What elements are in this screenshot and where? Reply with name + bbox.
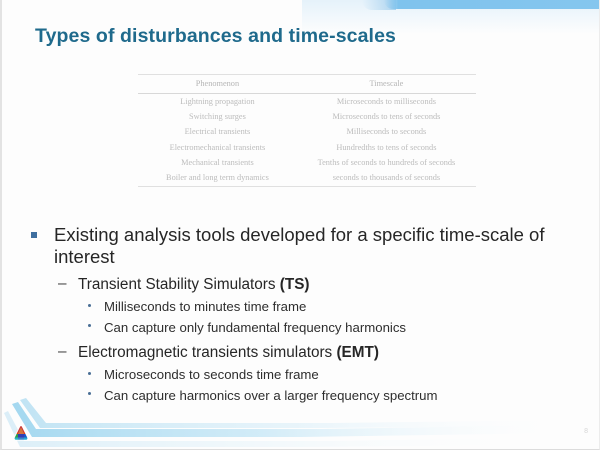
- phenomena-table: Phenomenon Timescale Lightning propagati…: [138, 74, 476, 187]
- bullet-level2-ts: – Transient Stability Simulators (TS): [26, 275, 586, 295]
- cell-timescale: Microseconds to tens of seconds: [297, 109, 476, 124]
- bullet-level3-text: Microseconds to seconds time frame: [104, 367, 319, 382]
- table-row: Lightning propagation Microseconds to mi…: [138, 94, 476, 110]
- dot-bullet-icon: [88, 372, 91, 375]
- cell-timescale: Tenths of seconds to hundreds of seconds: [297, 155, 476, 170]
- cell-timescale: Hundredths to tens of seconds: [297, 140, 476, 155]
- dot-bullet-icon: [88, 304, 91, 307]
- cell-phenomenon: Electromechanical transients: [138, 140, 297, 155]
- bullet-level2-abbrev: (EMT): [336, 344, 378, 361]
- cell-phenomenon: Electrical transients: [138, 124, 297, 139]
- table-row: Boiler and long term dynamics seconds to…: [138, 170, 476, 187]
- table-row: Switching surges Microseconds to tens of…: [138, 109, 476, 124]
- slide-title: Types of disturbances and time-scales: [35, 25, 396, 48]
- dash-bullet-icon: –: [58, 342, 67, 362]
- cell-phenomenon: Boiler and long term dynamics: [138, 170, 297, 187]
- presentation-slide: Types of disturbances and time-scales Ph…: [0, 0, 600, 450]
- logo-svg: [11, 423, 31, 443]
- bullet-level3: Milliseconds to minutes time frame: [26, 298, 586, 316]
- dash-bullet-icon: –: [58, 274, 67, 294]
- cell-timescale: seconds to thousands of seconds: [297, 170, 476, 187]
- square-bullet-icon: [31, 232, 37, 238]
- column-header-timescale: Timescale: [297, 75, 476, 94]
- column-header-phenomenon: Phenomenon: [138, 75, 297, 94]
- cell-timescale: Microseconds to milliseconds: [297, 94, 476, 110]
- bullet-level2-abbrev: (TS): [280, 276, 310, 293]
- cell-phenomenon: Lightning propagation: [138, 94, 297, 110]
- cell-phenomenon: Switching surges: [138, 109, 297, 124]
- bullet-level3-text: Milliseconds to minutes time frame: [104, 299, 306, 314]
- cell-phenomenon: Mechanical transients: [138, 155, 297, 170]
- triangle-prism-logo: [11, 423, 31, 443]
- bullet-level3: Can capture only fundamental frequency h…: [26, 319, 586, 337]
- bullet-level3-text: Can capture harmonics over a larger freq…: [104, 388, 438, 403]
- page-number: 8: [584, 428, 588, 435]
- cell-timescale: Milliseconds to seconds: [297, 124, 476, 139]
- bullet-level1-text: Existing analysis tools developed for a …: [54, 224, 545, 267]
- dot-bullet-icon: [88, 392, 91, 395]
- table-body: Lightning propagation Microseconds to mi…: [138, 94, 476, 187]
- bullet-level2-emt: – Electromagnetic transients simulators …: [26, 343, 586, 363]
- table-row: Electromechanical transients Hundredths …: [138, 140, 476, 155]
- bullet-level2-text: Electromagnetic transients simulators: [78, 344, 336, 361]
- phenomena-table-container: Phenomenon Timescale Lightning propagati…: [138, 74, 476, 187]
- top-accent-bar: [384, 0, 600, 9]
- bullet-level1: Existing analysis tools developed for a …: [26, 224, 586, 268]
- bullet-level2-text: Transient Stability Simulators: [78, 276, 280, 293]
- bullet-level3: Microseconds to seconds time frame: [26, 366, 586, 384]
- table-row: Mechanical transients Tenths of seconds …: [138, 155, 476, 170]
- dot-bullet-icon: [88, 324, 91, 327]
- slide-body: Existing analysis tools developed for a …: [26, 224, 586, 404]
- bullet-level3: Can capture harmonics over a larger freq…: [26, 387, 586, 405]
- table-header-row: Phenomenon Timescale: [138, 75, 476, 94]
- table-row: Electrical transients Milliseconds to se…: [138, 124, 476, 139]
- bullet-level3-text: Can capture only fundamental frequency h…: [104, 320, 406, 335]
